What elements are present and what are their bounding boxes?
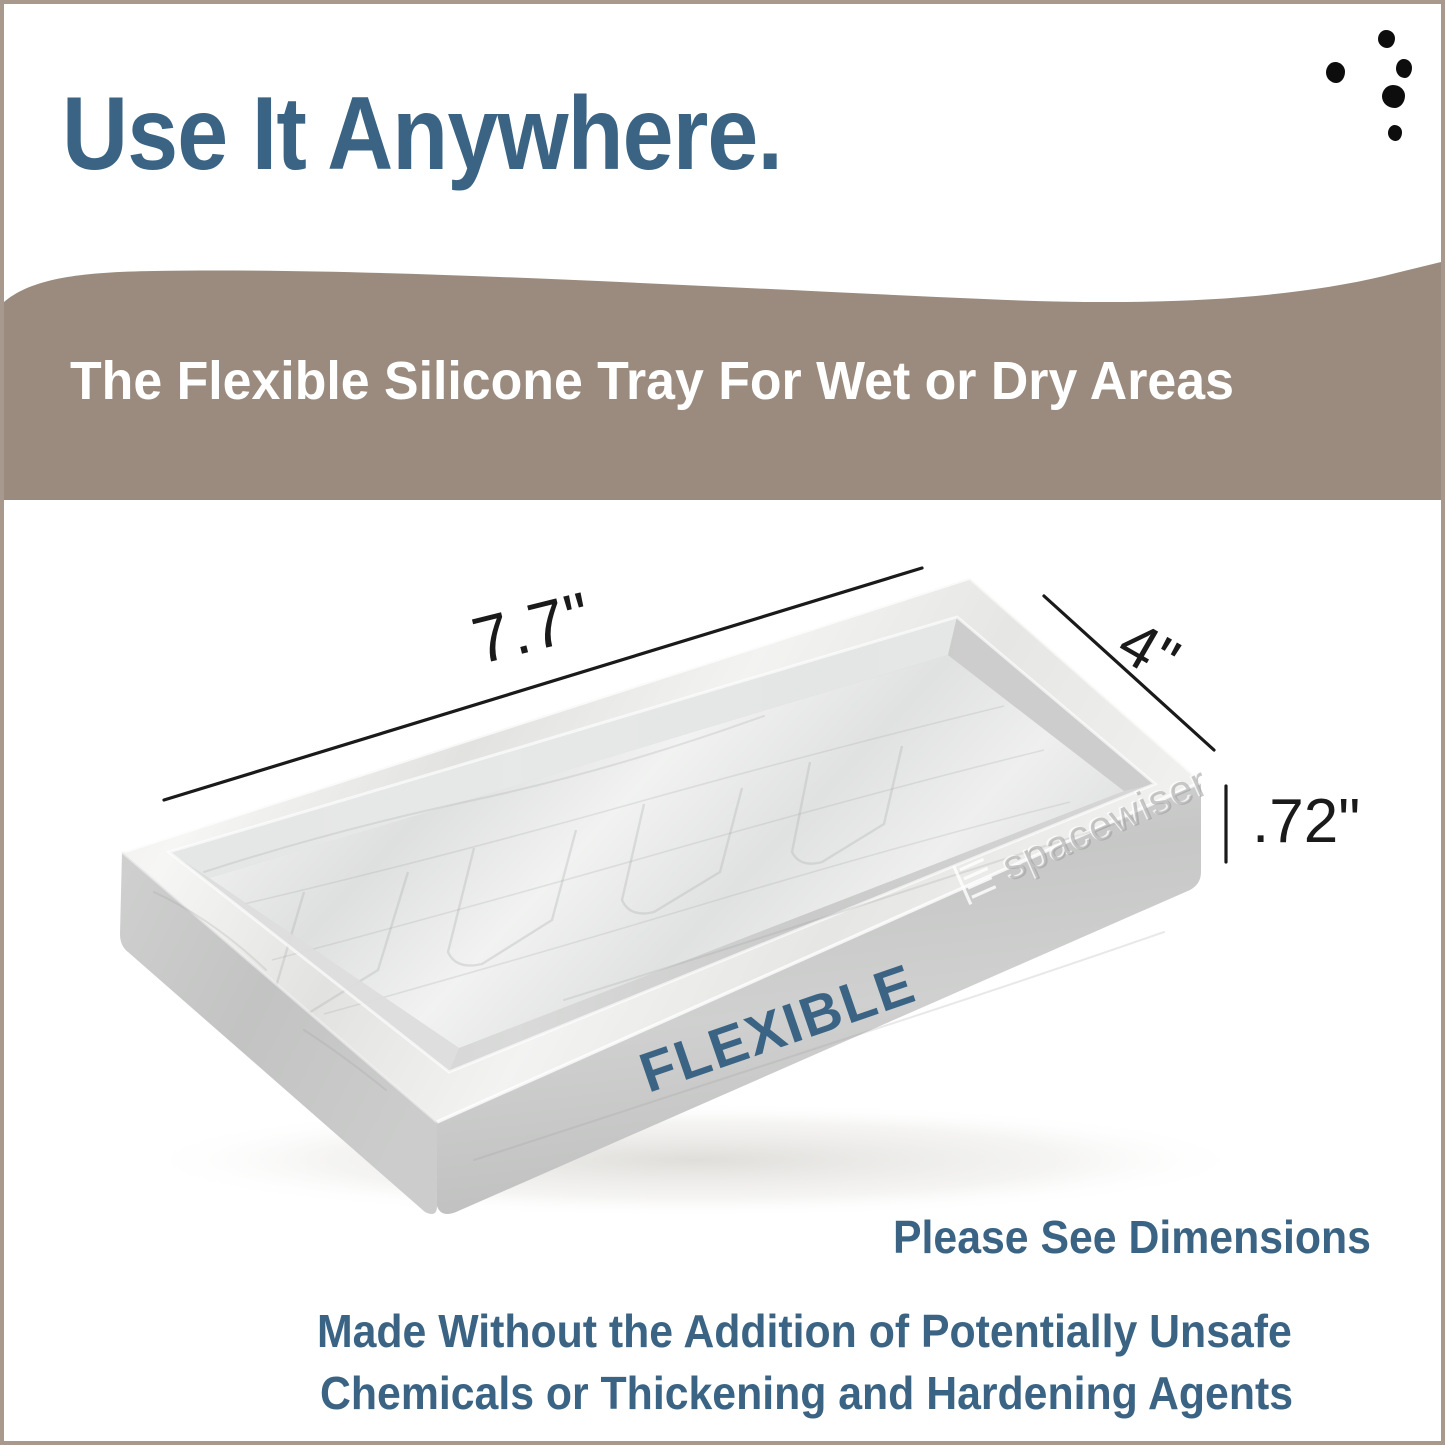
- subtitle-banner: The Flexible Silicone Tray For Wet or Dr…: [4, 254, 1445, 500]
- decorative-dot-1: [1326, 62, 1345, 83]
- decorative-dot-3: [1396, 59, 1412, 78]
- tray-illustration: spacewiser spacewiser: [4, 500, 1445, 1220]
- product-scene: spacewiser spacewiser: [4, 500, 1445, 1220]
- dimension-height-label: .72": [1252, 786, 1360, 857]
- see-dimensions-text: Please See Dimensions: [893, 1210, 1371, 1264]
- safety-claim-line-1: Made Without the Addition of Potentially…: [317, 1304, 1292, 1358]
- page-title: Use It Anywhere.: [62, 82, 782, 186]
- decorative-dot-2: [1378, 30, 1395, 48]
- product-infographic-canvas: Use It Anywhere. The Flexible Silicone T…: [0, 0, 1445, 1445]
- decorative-dot-4: [1382, 85, 1405, 108]
- scatter-dots-decoration-icon: [1284, 22, 1444, 182]
- decorative-dot-5: [1388, 125, 1402, 141]
- safety-claim-line-2: Chemicals or Thickening and Hardening Ag…: [320, 1366, 1293, 1420]
- banner-subtitle: The Flexible Silicone Tray For Wet or Dr…: [70, 350, 1234, 412]
